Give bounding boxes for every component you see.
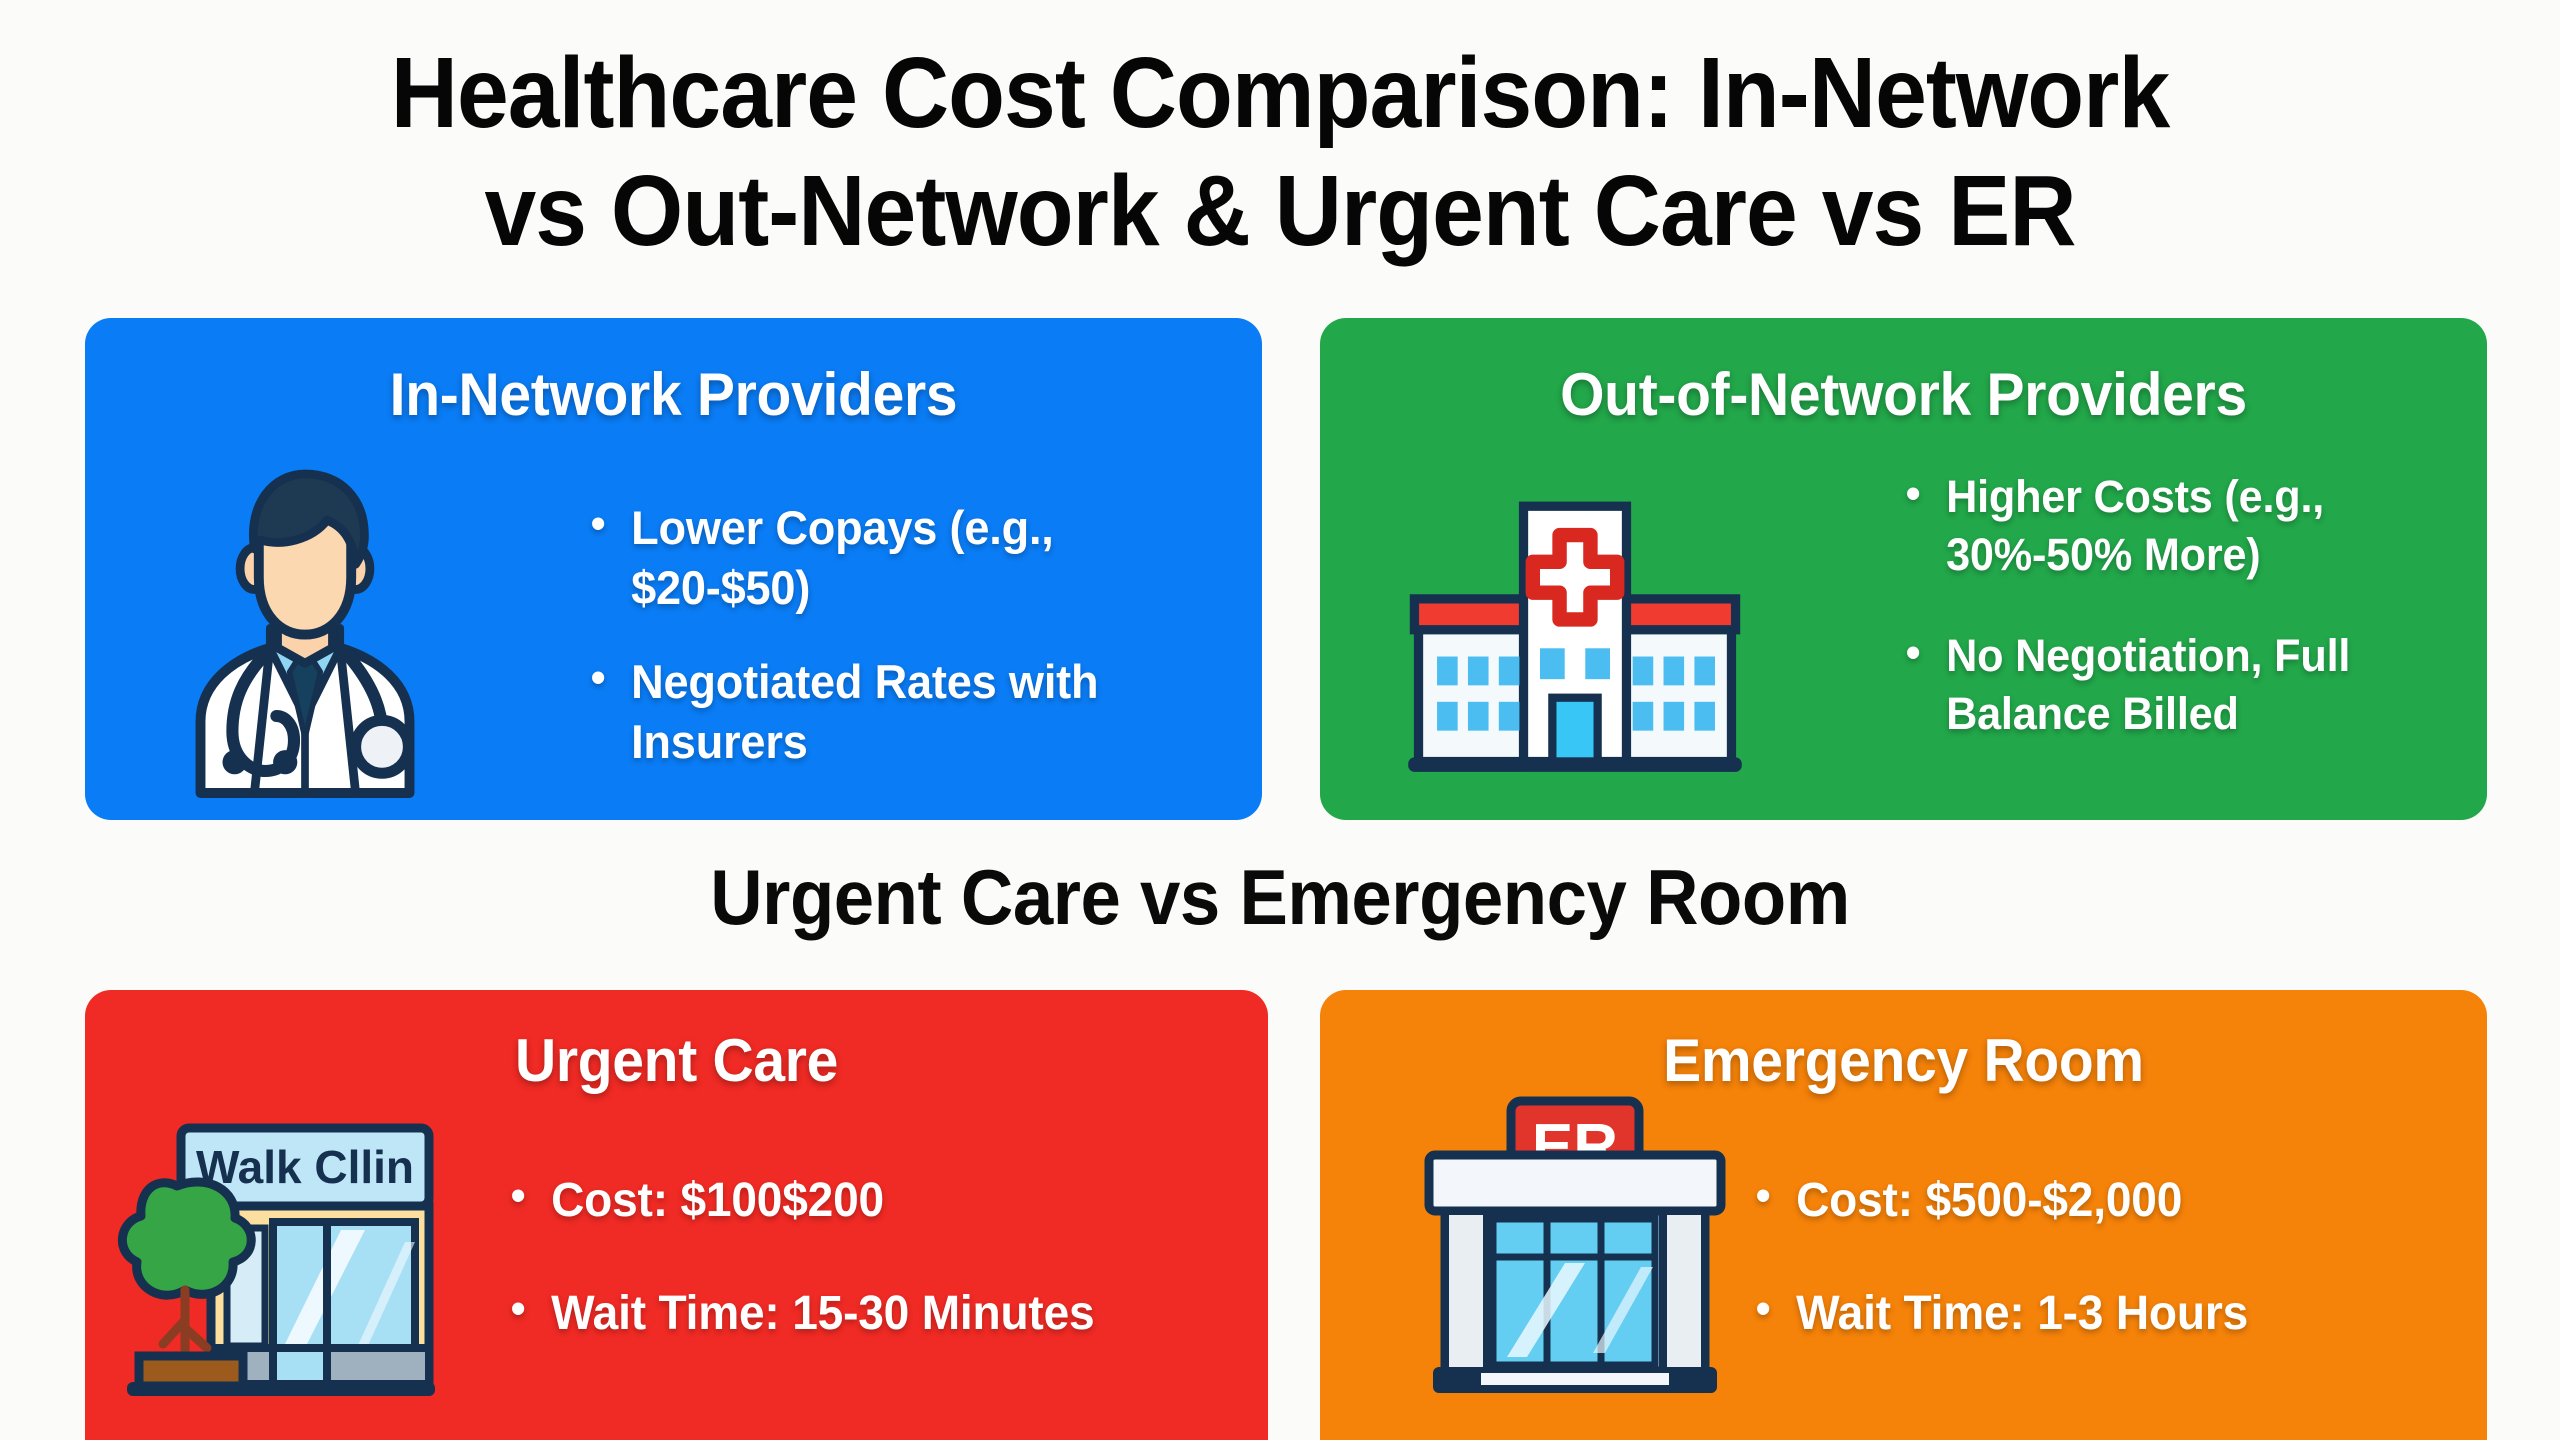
card-out-of-network-body: Out-of-Network Providers	[1320, 318, 2487, 820]
card-in-network-body: In-Network Providers	[85, 318, 1262, 820]
page-title-line-1: Healthcare Cost Comparison: In-Network	[90, 34, 2471, 152]
bullet-item: Cost: $100$200	[505, 1170, 1196, 1231]
card-out-of-network-bullets: Higher Costs (e.g., 30%-50% More) No Neg…	[1900, 468, 2460, 786]
card-in-network-title: In-Network Providers	[114, 360, 1232, 429]
card-urgent-care: Urgent Care Walk Cllin	[85, 990, 1268, 1440]
card-in-network-bullets: Lower Copays (e.g., $20-$50) Negotiated …	[585, 498, 1245, 773]
bullet-item: Negotiated Rates with Insurers	[585, 652, 1219, 772]
card-urgent-care-bullets: Cost: $100$200 Wait Time: 15-30 Minutes	[505, 1170, 1225, 1397]
bullet-item: Lower Copays (e.g., $20-$50)	[585, 498, 1219, 618]
bullet-item: Wait Time: 15-30 Minutes	[505, 1283, 1196, 1344]
card-emergency-room-bullets: Cost: $500-$2,000 Wait Time: 1-3 Hours	[1750, 1170, 2470, 1397]
bullet-item: Higher Costs (e.g., 30%-50% More)	[1900, 468, 2438, 583]
page-title-line-2: vs Out-Network & Urgent Care vs ER	[90, 152, 2471, 270]
card-urgent-care-title: Urgent Care	[115, 1026, 1239, 1095]
doctor-icon	[140, 463, 470, 793]
walk-in-clinic-icon: Walk Cllin	[115, 1090, 445, 1420]
card-out-of-network: Out-of-Network Providers	[1320, 318, 2487, 820]
card-emergency-room-body: Emergency Room ER	[1320, 990, 2487, 1440]
card-emergency-room: Emergency Room ER	[1320, 990, 2487, 1440]
hospital-building-icon	[1400, 478, 1750, 798]
infographic-canvas: Healthcare Cost Comparison: In-Network v…	[0, 0, 2560, 1440]
card-out-of-network-title: Out-of-Network Providers	[1349, 360, 2458, 429]
bullet-item: Wait Time: 1-3 Hours	[1750, 1283, 2441, 1344]
bullet-item: No Negotiation, Full Balance Billed	[1900, 627, 2438, 742]
er-storefront-icon: ER	[1415, 1085, 1735, 1415]
card-in-network: In-Network Providers	[85, 318, 1262, 820]
page-title: Healthcare Cost Comparison: In-Network v…	[90, 34, 2471, 270]
clinic-sign-text: Walk Cllin	[196, 1141, 414, 1193]
bullet-item: Cost: $500-$2,000	[1750, 1170, 2441, 1231]
card-urgent-care-body: Urgent Care Walk Cllin	[85, 990, 1268, 1440]
section-heading: Urgent Care vs Emergency Room	[90, 855, 2471, 941]
